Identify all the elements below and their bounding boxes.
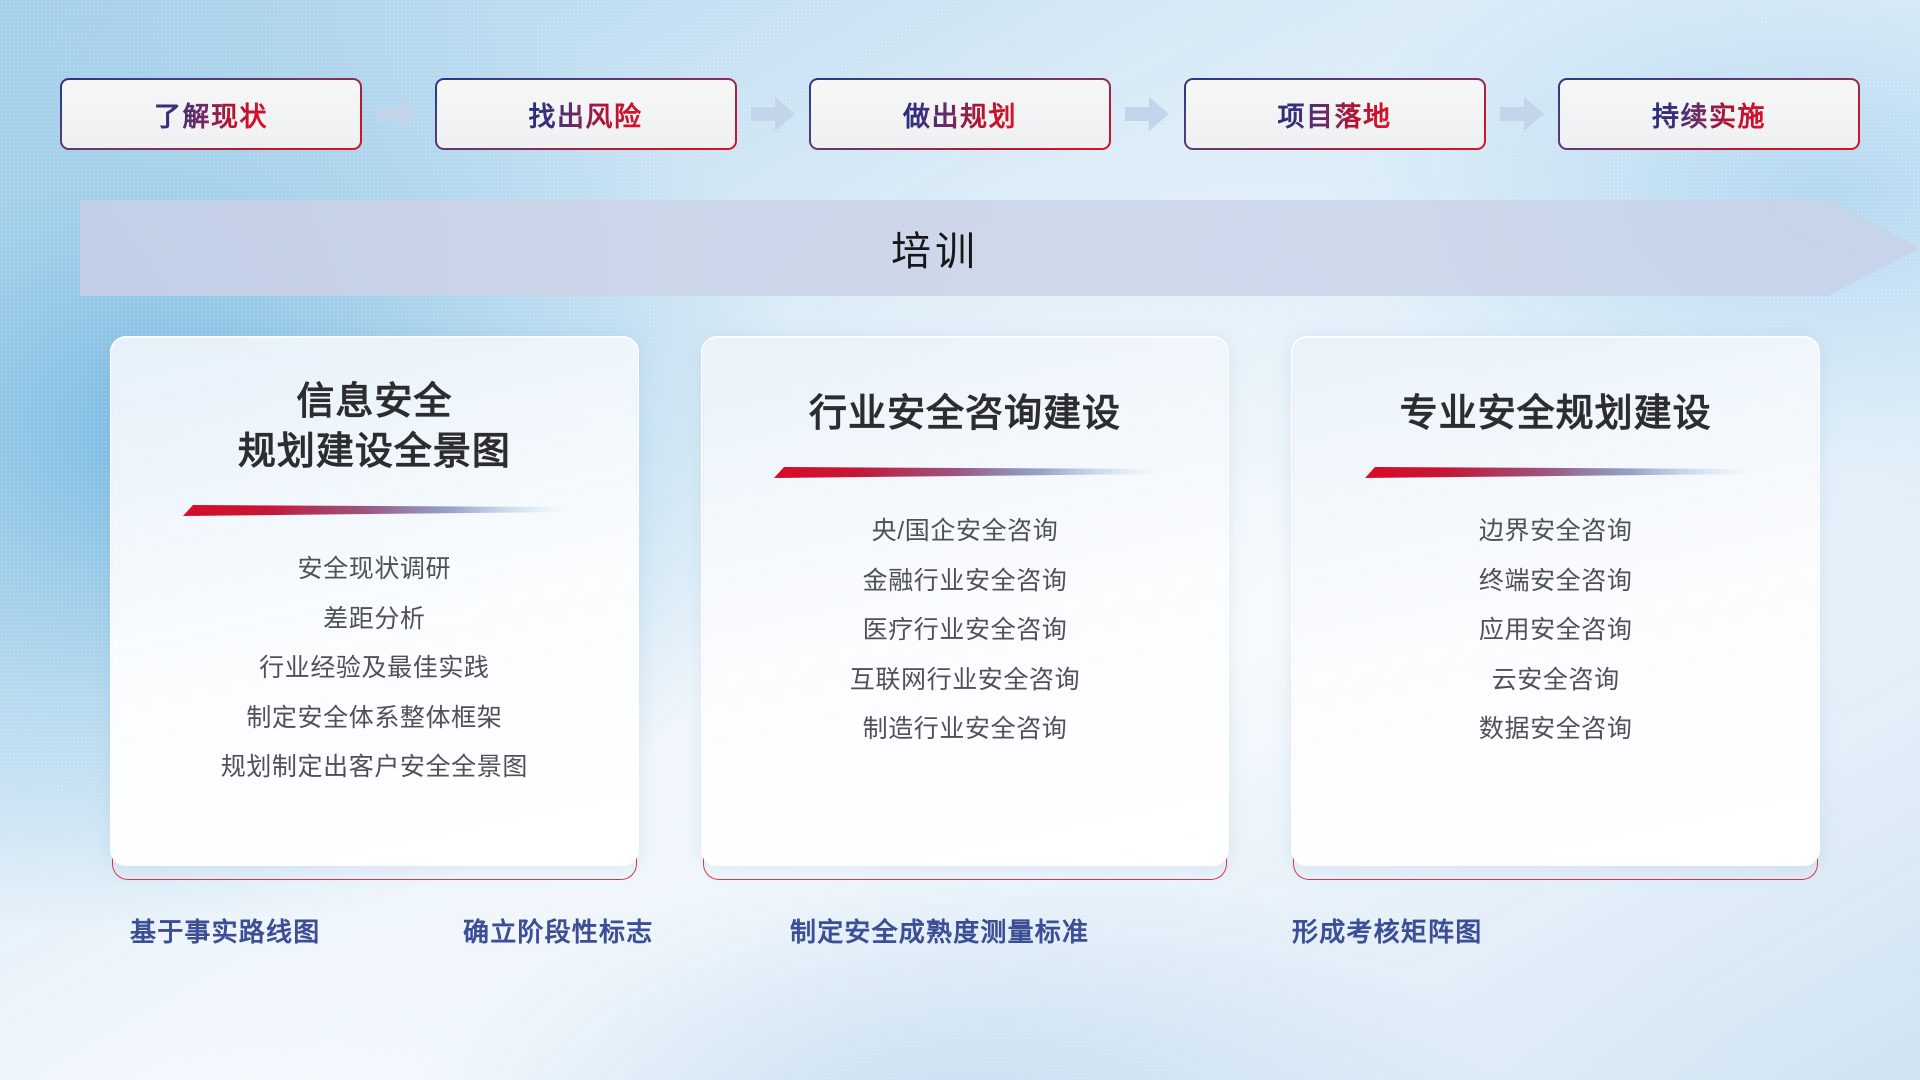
list-item: 边界安全咨询 (1318, 507, 1793, 557)
process-step-4-inner: 项目落地 (1186, 80, 1484, 148)
training-banner: 培训 (0, 200, 1920, 296)
process-step-1-label: 了解现状 (154, 95, 268, 134)
list-item: 制定安全体系整体框架 (137, 694, 612, 744)
right-arrow-icon (376, 97, 420, 131)
process-step-3-label: 做出规划 (903, 95, 1017, 134)
caption-roadmap: 基于事实路线图 (130, 912, 320, 949)
card-3-divider (1365, 465, 1747, 481)
list-item: 规划制定出客户安全全景图 (137, 743, 612, 793)
list-item: 医疗行业安全咨询 (728, 606, 1203, 656)
right-arrow-icon (751, 97, 795, 131)
process-step-4[interactable]: 项目落地 (1184, 78, 1486, 150)
card-3-list: 边界安全咨询 终端安全咨询 应用安全咨询 云安全咨询 数据安全咨询 (1318, 507, 1793, 755)
process-step-1[interactable]: 了解现状 (60, 78, 362, 150)
process-connector-3 (1111, 78, 1184, 150)
card-professional-security-planning[interactable]: 专业安全规划建设 (1291, 336, 1820, 866)
banner-title: 培训 (0, 200, 1870, 296)
process-step-3[interactable]: 做出规划 (809, 78, 1111, 150)
card-row: 信息安全 规划建设全景图 (110, 336, 1820, 876)
process-step-2-inner: 找出风险 (437, 80, 735, 148)
process-step-5[interactable]: 持续实施 (1558, 78, 1860, 150)
list-item: 制造行业安全咨询 (728, 705, 1203, 755)
card-1-title: 信息安全 规划建设全景图 (238, 377, 511, 477)
card-2-title: 行业安全咨询建设 (809, 389, 1121, 439)
process-connector-2 (737, 78, 810, 150)
card-2-divider (774, 465, 1156, 481)
list-item: 差距分析 (137, 595, 612, 645)
process-step-2[interactable]: 找出风险 (435, 78, 737, 150)
process-connector-1 (362, 78, 435, 150)
infographic-canvas: 了解现状 找出风险 做出规划 (0, 0, 1920, 1080)
list-item: 互联网行业安全咨询 (728, 656, 1203, 706)
tapered-gradient-divider-icon (1365, 465, 1747, 481)
process-step-1-inner: 了解现状 (62, 80, 360, 148)
list-item: 终端安全咨询 (1318, 557, 1793, 607)
tapered-gradient-divider-icon (183, 503, 565, 519)
process-step-5-inner: 持续实施 (1560, 80, 1858, 148)
list-item: 云安全咨询 (1318, 656, 1793, 706)
card-2-face: 行业安全咨询建设 (701, 336, 1230, 866)
caption-matrix: 形成考核矩阵图 (1292, 912, 1482, 949)
list-item: 金融行业安全咨询 (728, 557, 1203, 607)
card-info-security-panorama[interactable]: 信息安全 规划建设全景图 (110, 336, 639, 866)
process-step-row: 了解现状 找出风险 做出规划 (60, 78, 1860, 150)
list-item: 央/国企安全咨询 (728, 507, 1203, 557)
card-1-divider (183, 503, 565, 519)
right-arrow-icon (1125, 97, 1169, 131)
process-step-2-label: 找出风险 (529, 95, 643, 134)
card-3-title: 专业安全规划建设 (1400, 389, 1712, 439)
list-item: 数据安全咨询 (1318, 705, 1793, 755)
list-item: 应用安全咨询 (1318, 606, 1793, 656)
process-connector-4 (1486, 78, 1559, 150)
list-item: 行业经验及最佳实践 (137, 644, 612, 694)
card-1-face: 信息安全 规划建设全景图 (110, 336, 639, 866)
process-step-4-label: 项目落地 (1278, 95, 1392, 134)
list-item: 安全现状调研 (137, 545, 612, 595)
process-step-5-label: 持续实施 (1652, 95, 1766, 134)
right-arrow-icon (1500, 97, 1544, 131)
caption-row: 基于事实路线图 确立阶段性标志 制定安全成熟度测量标准 形成考核矩阵图 (0, 912, 1920, 960)
tapered-gradient-divider-icon (774, 465, 1156, 481)
card-3-face: 专业安全规划建设 (1291, 336, 1820, 866)
process-step-3-inner: 做出规划 (811, 80, 1109, 148)
card-1-list: 安全现状调研 差距分析 行业经验及最佳实践 制定安全体系整体框架 规划制定出客户… (137, 545, 612, 793)
card-industry-security-consulting[interactable]: 行业安全咨询建设 (701, 336, 1230, 866)
caption-maturity: 制定安全成熟度测量标准 (790, 912, 1089, 949)
caption-milestone: 确立阶段性标志 (463, 912, 653, 949)
card-2-list: 央/国企安全咨询 金融行业安全咨询 医疗行业安全咨询 互联网行业安全咨询 制造行… (728, 507, 1203, 755)
